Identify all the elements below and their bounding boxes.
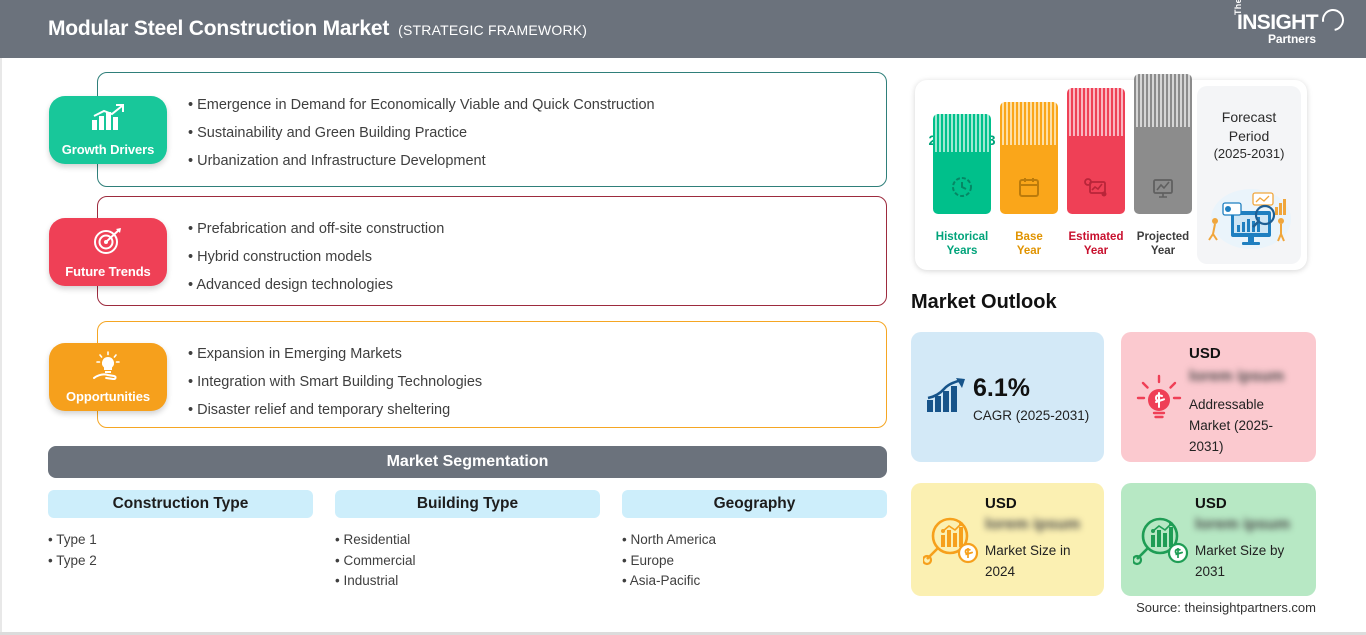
list-item: North America (622, 530, 887, 551)
segmentation-column-header: Geography (622, 490, 887, 518)
list-item: Type 1 (48, 530, 313, 551)
forecast-bar-base: 2024 Base Year (1000, 80, 1058, 258)
page-header: Modular Steel Construction Market(STRATE… (0, 0, 1366, 58)
forecast-bar-shape (1134, 74, 1192, 214)
forecast-bars: 2021-2023 Historical Years 2024 (923, 80, 1203, 270)
lightbulb-hand-icon (88, 351, 128, 388)
list-item: Expansion in Emerging Markets (188, 340, 482, 368)
bar-stripe (933, 114, 991, 152)
card-value-blurred: lorem ipsum (1189, 368, 1284, 386)
source-attribution: Source: theinsightpartners.com (1136, 600, 1316, 615)
card-description: Market Size by 2031 (1195, 540, 1303, 582)
forecast-period-line1: Forecast (1222, 109, 1276, 125)
section-box-opportunities: Expansion in Emerging Markets Integratio… (97, 321, 887, 428)
forecast-period-line2: Period (1229, 128, 1269, 144)
forecast-period-range: (2025-2031) (1197, 146, 1301, 161)
calendar-icon (1017, 175, 1041, 204)
forecast-bar-shape (1000, 102, 1058, 214)
page-subtitle-text: (STRATEGIC FRAMEWORK) (398, 22, 587, 38)
bullet-list-future-trends: Prefabrication and off-site construction… (188, 215, 444, 299)
clock-history-icon (950, 175, 974, 204)
list-item: Emergence in Demand for Economically Via… (188, 91, 655, 119)
magnifier-chart-icon (923, 515, 981, 572)
forecast-bar-label-line2: Year (1084, 245, 1108, 257)
segmentation-column-header: Building Type (335, 490, 600, 518)
bar-solid (1134, 127, 1192, 214)
badge-growth-drivers[interactable]: Growth Drivers (49, 96, 167, 164)
badge-label: Growth Drivers (62, 142, 155, 157)
forecast-period-title: Forecast Period (1197, 108, 1301, 146)
forecast-period-box: Forecast Period (2025-2031) (1197, 86, 1301, 264)
forecast-bar-label-line1: Projected (1137, 231, 1189, 243)
list-item: Hybrid construction models (188, 243, 444, 271)
left-edge-divider (0, 58, 2, 635)
outlook-card-market-size-2031[interactable]: USD lorem ipsum Market Size by 2031 (1121, 483, 1316, 596)
forecast-bar-label-line1: Estimated (1069, 231, 1124, 243)
list-item: Prefabrication and off-site construction (188, 215, 444, 243)
section-box-growth-drivers: Emergence in Demand for Economically Via… (97, 72, 887, 187)
segmentation-item-list: North America Europe Asia-Pacific (622, 530, 887, 592)
segmentation-header-label: Geography (714, 495, 796, 513)
forecast-gear-icon (1084, 177, 1108, 204)
bar-solid (933, 152, 991, 214)
bar-stripe (1067, 88, 1125, 136)
magnifier-chart-icon (1133, 515, 1191, 572)
list-item: Type 2 (48, 551, 313, 572)
card-currency-label: USD (985, 495, 1017, 512)
forecast-bar-shape (1067, 88, 1125, 214)
segmentation-header-label: Building Type (417, 495, 518, 513)
segmentation-column-building-type: Building Type Residential Commercial Ind… (335, 490, 600, 592)
cagr-description: CAGR (2025-2031) (973, 408, 1089, 423)
forecast-bar-historical: 2021-2023 Historical Years (933, 80, 991, 258)
segmentation-header-label: Construction Type (113, 495, 249, 513)
list-item: Europe (622, 551, 887, 572)
card-description: Market Size in 2024 (985, 540, 1093, 582)
segmentation-column-geography: Geography North America Europe Asia-Paci… (622, 490, 887, 592)
cagr-value: 6.1% (973, 374, 1030, 403)
card-value-blurred: lorem ipsum (1195, 516, 1290, 534)
segmentation-item-list: Type 1 Type 2 (48, 530, 313, 571)
forecast-bar-label-line1: Historical (936, 231, 988, 243)
segmentation-column-construction-type: Construction Type Type 1 Type 2 (48, 490, 313, 571)
outlook-card-cagr[interactable]: 6.1% CAGR (2025-2031) (911, 332, 1104, 462)
target-dart-icon (91, 226, 125, 261)
bar-chart-arrow-icon (925, 378, 967, 419)
bar-stripe (1000, 102, 1058, 145)
forecast-bar-label: Historical Years (936, 230, 988, 258)
badge-label: Opportunities (66, 389, 150, 404)
card-currency-label: USD (1195, 495, 1227, 512)
market-segmentation-bar: Market Segmentation (48, 446, 887, 478)
list-item: Advanced design technologies (188, 271, 444, 299)
forecast-bar-label-line2: Year (1017, 245, 1041, 257)
forecast-bar-label-line2: Years (947, 245, 978, 257)
bar-solid (1000, 145, 1058, 214)
list-item: Asia-Pacific (622, 571, 887, 592)
analytics-dashboard-illustration (1201, 185, 1297, 256)
bullet-list-growth-drivers: Emergence in Demand for Economically Via… (188, 91, 655, 175)
forecast-bar-estimated: 2025 Estimated Year (1067, 80, 1125, 258)
page-title-text: Modular Steel Construction Market (48, 17, 389, 40)
card-currency-label: USD (1189, 345, 1221, 362)
list-item: Residential (335, 530, 600, 551)
badge-label: Future Trends (65, 264, 150, 279)
list-item: Commercial (335, 551, 600, 572)
list-item: Industrial (335, 571, 600, 592)
forecast-bar-label-line2: Year (1151, 245, 1175, 257)
market-segmentation-title: Market Segmentation (387, 453, 549, 471)
section-box-future-trends: Prefabrication and off-site construction… (97, 196, 887, 306)
outlook-card-addressable-market[interactable]: USD lorem ipsum Addressable Market (2025… (1121, 332, 1316, 462)
presentation-icon (1151, 177, 1175, 204)
bar-stripe (1134, 74, 1192, 127)
list-item: Disaster relief and temporary sheltering (188, 396, 482, 424)
market-outlook-title: Market Outlook (911, 291, 1057, 314)
bar-chart-arrow-icon (88, 104, 128, 137)
card-description: Addressable Market (2025-2031) (1189, 394, 1299, 457)
forecast-bar-label: Base Year (1015, 230, 1043, 258)
forecast-bar-projected: 2031 Projected Year (1134, 80, 1192, 258)
forecast-bar-shape (933, 114, 991, 214)
logo-partners-text: Partners (1268, 32, 1316, 46)
page-title: Modular Steel Construction Market(STRATE… (48, 17, 587, 41)
lightbulb-dollar-icon (1135, 374, 1183, 429)
list-item: Urbanization and Infrastructure Developm… (188, 147, 655, 175)
badge-opportunities[interactable]: Opportunities (49, 343, 167, 411)
segmentation-item-list: Residential Commercial Industrial (335, 530, 600, 592)
segmentation-column-header: Construction Type (48, 490, 313, 518)
list-item: Sustainability and Green Building Practi… (188, 119, 655, 147)
infographic-page: Modular Steel Construction Market(STRATE… (0, 0, 1366, 635)
logo-swoosh-icon (1318, 5, 1349, 36)
insight-partners-logo[interactable]: The INSIGHT Partners (1218, 9, 1348, 51)
bar-solid (1067, 136, 1125, 214)
forecast-bar-label-line1: Base (1015, 231, 1043, 243)
forecast-bar-label: Estimated Year (1069, 230, 1124, 258)
forecast-bar-label: Projected Year (1137, 230, 1189, 258)
forecast-period-panel: 2021-2023 Historical Years 2024 (915, 80, 1307, 270)
list-item: Integration with Smart Building Technolo… (188, 368, 482, 396)
bullet-list-opportunities: Expansion in Emerging Markets Integratio… (188, 340, 482, 424)
card-value-blurred: lorem ipsum (985, 516, 1080, 534)
badge-future-trends[interactable]: Future Trends (49, 218, 167, 286)
outlook-card-market-size-2024[interactable]: USD lorem ipsum Market Size in 2024 (911, 483, 1104, 596)
